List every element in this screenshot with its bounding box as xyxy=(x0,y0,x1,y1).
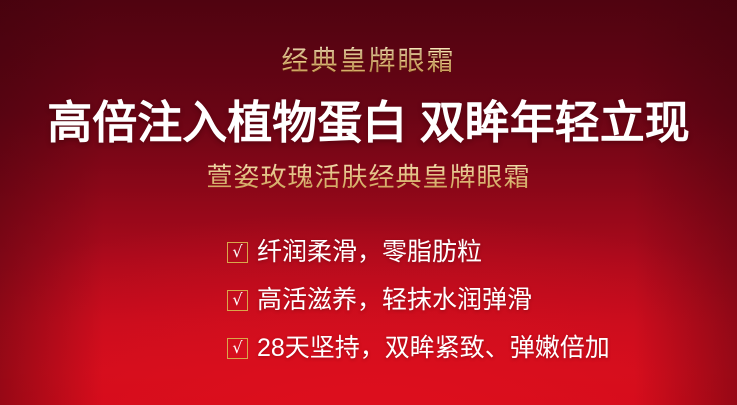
feature-list: √ 纤润柔滑，零脂肪粒 √ 高活滋养，轻抹水润弹滑 √ 28天坚持，双眸紧致、弹… xyxy=(227,237,707,364)
banner-subtitle: 萱姿玫瑰活肤经典皇牌眼霜 xyxy=(0,160,737,194)
list-item: √ 高活滋养，轻抹水润弹滑 xyxy=(227,285,707,316)
banner-headline: 高倍注入植物蛋白 双眸年轻立现 xyxy=(0,96,737,150)
check-glyph: √ xyxy=(232,340,242,356)
checkbox-icon: √ xyxy=(227,242,248,263)
checkbox-icon: √ xyxy=(227,290,248,311)
banner-kicker: 经典皇牌眼霜 xyxy=(0,44,737,78)
feature-label: 28天坚持，双眸紧致、弹嫩倍加 xyxy=(257,333,610,364)
feature-label: 高活滋养，轻抹水润弹滑 xyxy=(257,285,532,316)
banner-content: 经典皇牌眼霜 高倍注入植物蛋白 双眸年轻立现 萱姿玫瑰活肤经典皇牌眼霜 √ 纤润… xyxy=(0,0,737,405)
check-glyph: √ xyxy=(232,244,242,260)
checkbox-icon: √ xyxy=(227,338,248,359)
list-item: √ 28天坚持，双眸紧致、弹嫩倍加 xyxy=(227,333,707,364)
promo-banner: 经典皇牌眼霜 高倍注入植物蛋白 双眸年轻立现 萱姿玫瑰活肤经典皇牌眼霜 √ 纤润… xyxy=(0,0,737,405)
check-glyph: √ xyxy=(232,292,242,308)
feature-label: 纤润柔滑，零脂肪粒 xyxy=(257,237,482,268)
list-item: √ 纤润柔滑，零脂肪粒 xyxy=(227,237,707,268)
